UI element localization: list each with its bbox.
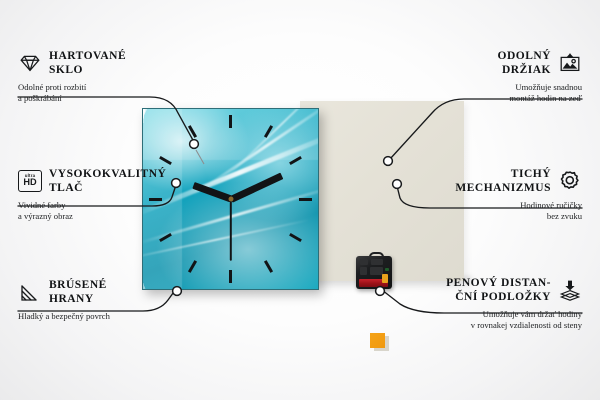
infographic-canvas: HARTOVANÉ SKLO Odolné proti rozbití a po…: [0, 0, 600, 400]
feature-foam-spacers: PENOVÝ DISTAN- ČNÍ PODLOŽKY Umožňuje vám…: [426, 277, 582, 331]
gear-icon: [558, 169, 582, 193]
feature-title: ODOLNÝ DRŽIAK: [498, 50, 551, 77]
diamond-icon: [18, 51, 42, 75]
callout-dot-4: [384, 157, 393, 166]
badge-hd-label: HD: [23, 178, 36, 188]
feature-description: Umožňuje vám držať hodiny v rovnakej vzd…: [426, 309, 582, 331]
feature-durable-hanger: ODOLNÝ DRŽIAK Umožňuje snadnou montáž ho…: [432, 50, 582, 104]
ultra-hd-badge-icon: ultra HD: [18, 170, 42, 192]
callout-dot-1: [190, 140, 199, 149]
feature-title: HARTOVANÉ SKLO: [49, 50, 126, 77]
wire-right-1: [390, 99, 582, 159]
feature-title: TICHÝ MECHANIZMUS: [455, 168, 551, 195]
callout-dot-5: [393, 180, 402, 189]
callout-dot-3: [173, 287, 182, 296]
clock-center-pin: [228, 197, 233, 202]
feature-tempered-glass: HARTOVANÉ SKLO Odolné proti rozbití a po…: [18, 50, 168, 104]
feature-description: Odolné proti rozbití a poškrábání: [18, 82, 168, 104]
feature-description: Umožňuje snadnou montáž hodin na zeď: [432, 82, 582, 104]
feature-high-quality-print: ultra HD VYSOKOKVALITNÝ TLAČ Vividné far…: [18, 168, 168, 222]
feature-description: Vividné farby a výrazný obraz: [18, 200, 168, 222]
clock-hand-artifact: [196, 150, 204, 164]
feature-title: BRÚSENÉ HRANY: [49, 279, 107, 306]
feature-title: PENOVÝ DISTAN- ČNÍ PODLOŽKY: [446, 277, 551, 304]
feature-description: Hladký a bezpečný povrch: [18, 311, 168, 322]
feature-ground-edges: BRÚSENÉ HRANY Hladký a bezpečný povrch: [18, 279, 168, 322]
feature-silent-mechanism: TICHÝ MECHANIZMUS Hodinové ručičky bez z…: [432, 168, 582, 222]
callout-dot-6: [376, 287, 385, 296]
feature-description: Hodinové ručičky bez zvuku: [432, 200, 582, 222]
picture-hanger-icon: [558, 51, 582, 75]
callout-dot-2: [172, 179, 181, 188]
ground-edges-icon: [18, 280, 42, 304]
feature-title: VYSOKOKVALITNÝ TLAČ: [49, 168, 166, 195]
foam-spacer-icon: [558, 278, 582, 302]
